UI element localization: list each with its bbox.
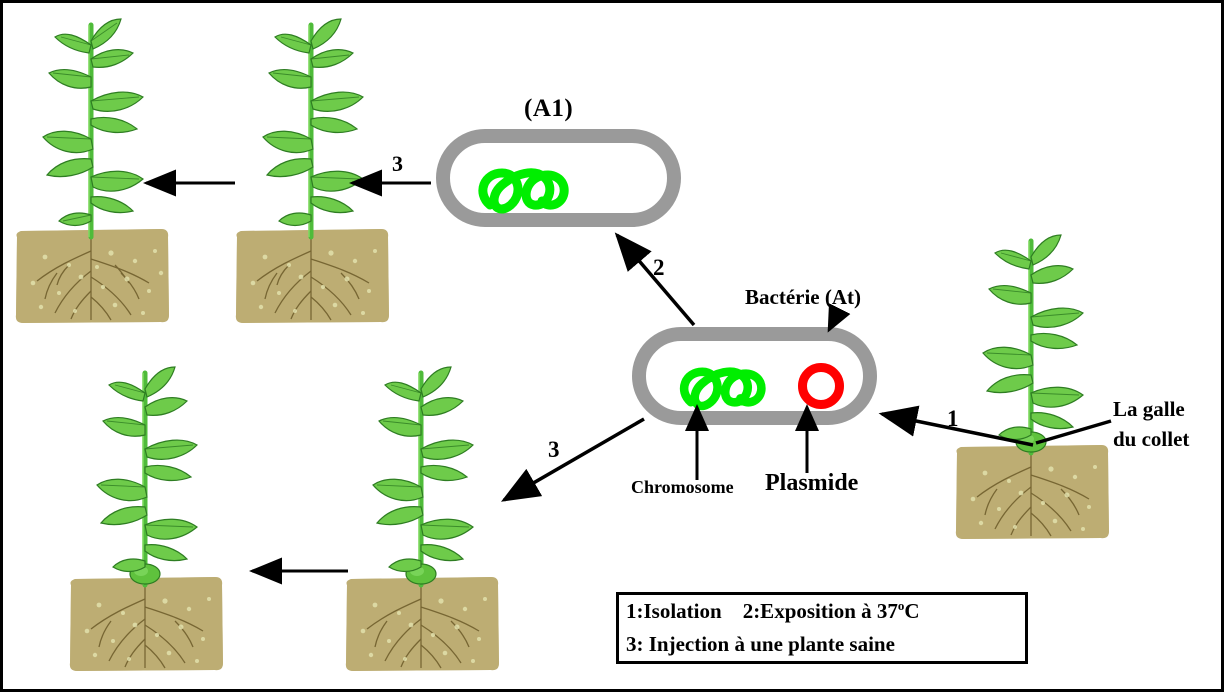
legend-step1: 1:Isolation (626, 599, 722, 623)
plasmid-label: Plasmide (765, 470, 858, 497)
legend-box: 1:Isolation 2:Exposition à 37oC 3: Injec… (616, 592, 1028, 664)
arrow-step3-down-left (504, 419, 644, 500)
diagram-canvas: (A1) (0, 0, 1224, 692)
legend-line-2: 3: Injection à une plante saine (626, 628, 1025, 661)
chromosome-label: Chromosome (631, 477, 734, 498)
gall-label-line2: du collet (1113, 427, 1189, 452)
bacterium-at-label: Bactérie (At) (745, 285, 861, 310)
legend-step2: 2:Exposition à 37 (743, 599, 898, 623)
step-number-3-top: 3 (392, 151, 403, 177)
step-number-1: 1 (947, 406, 959, 432)
pointer-bacterium-label (829, 310, 839, 330)
pointer-gall-label (1036, 421, 1111, 443)
gall-label-line1: La galle (1113, 397, 1185, 422)
arrow-layer (3, 3, 1221, 689)
temperature-unit: C (904, 599, 919, 623)
step-number-3-bottom: 3 (548, 437, 560, 463)
legend-line-1: 1:Isolation 2:Exposition à 37oC (626, 595, 1025, 628)
step-number-2: 2 (653, 255, 665, 281)
